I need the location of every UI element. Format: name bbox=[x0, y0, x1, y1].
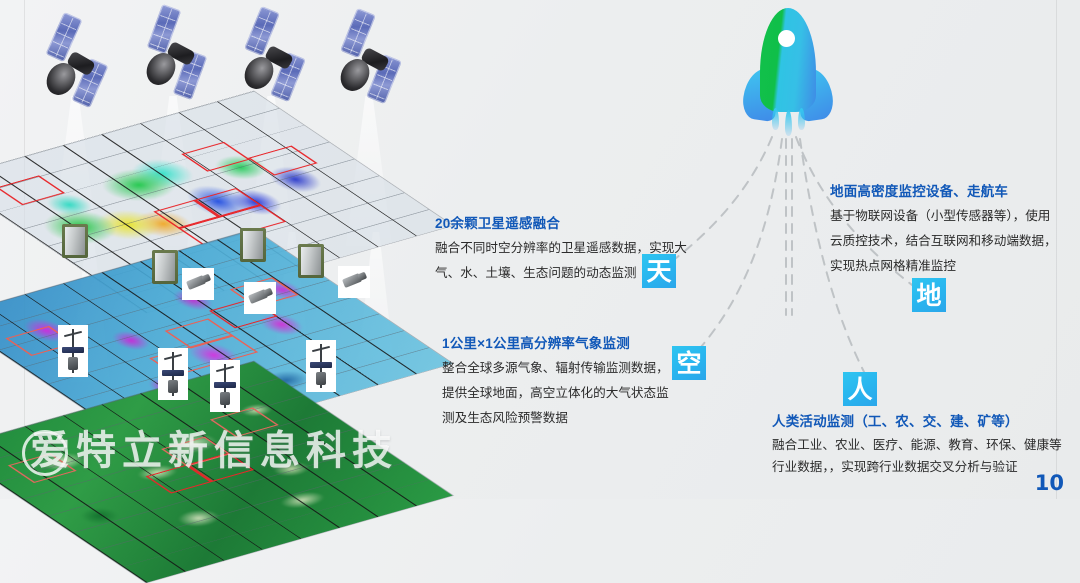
sensor-box-icon bbox=[152, 250, 178, 284]
camera-icon bbox=[338, 266, 370, 298]
block-body: 整合全球多源气象、辐射传输监测数据，提供全球地面，高空立体化的大气状态监测及生态… bbox=[442, 356, 680, 431]
badge-air: 空 bbox=[672, 346, 706, 380]
weather-station-icon bbox=[58, 325, 88, 377]
block-body: 融合工业、农业、医疗、能源、教育、环保、健康等行业数据，，实现跨行业数据交叉分析… bbox=[772, 434, 1072, 478]
block-body: 基于物联网设备（小型传感器等），使用云质控技术，结合互联网和移动端数据，实现热点… bbox=[830, 204, 1058, 279]
badge-sky: 天 bbox=[642, 254, 676, 288]
badge-ground: 地 bbox=[912, 278, 946, 312]
text-block-human-activity: 人类活动监测（工、农、交、建、矿等） 融合工业、农业、医疗、能源、教育、环保、健… bbox=[772, 410, 1072, 478]
block-heading: 20余颗卫星遥感融合 bbox=[435, 212, 690, 232]
satellite-icon bbox=[222, 8, 318, 98]
rocket-porthole-icon bbox=[778, 30, 795, 47]
sensor-box-icon bbox=[240, 228, 266, 262]
satellite-icon bbox=[318, 10, 414, 100]
weather-station-icon bbox=[210, 360, 240, 412]
rocket-icon bbox=[742, 6, 834, 130]
page-number: 10 bbox=[1035, 471, 1064, 495]
text-block-weather-grid: 1公里×1公里高分辨率气象监测 整合全球多源气象、辐射传输监测数据，提供全球地面… bbox=[442, 332, 680, 431]
badge-human: 人 bbox=[843, 372, 877, 406]
satellite-icon bbox=[124, 6, 220, 96]
slide-canvas: 20余颗卫星遥感融合 融合不同时空分辨率的卫星遥感数据，实现大气、水、土壤、生态… bbox=[0, 0, 1080, 499]
sensor-box-icon bbox=[298, 244, 324, 278]
camera-icon bbox=[244, 282, 276, 314]
text-block-ground-monitoring: 地面高密度监控设备、走航车 基于物联网设备（小型传感器等），使用云质控技术，结合… bbox=[830, 180, 1058, 279]
watermark-logo bbox=[22, 430, 68, 476]
camera-icon bbox=[182, 268, 214, 300]
block-heading: 人类活动监测（工、农、交、建、矿等） bbox=[772, 410, 1072, 430]
sensor-box-icon bbox=[62, 224, 88, 258]
weather-station-icon bbox=[306, 340, 336, 392]
weather-station-icon bbox=[158, 348, 188, 400]
block-heading: 1公里×1公里高分辨率气象监测 bbox=[442, 332, 680, 352]
layer-stack-diagram bbox=[0, 0, 470, 499]
block-heading: 地面高密度监控设备、走航车 bbox=[830, 180, 1058, 200]
satellite-icon bbox=[26, 12, 122, 102]
